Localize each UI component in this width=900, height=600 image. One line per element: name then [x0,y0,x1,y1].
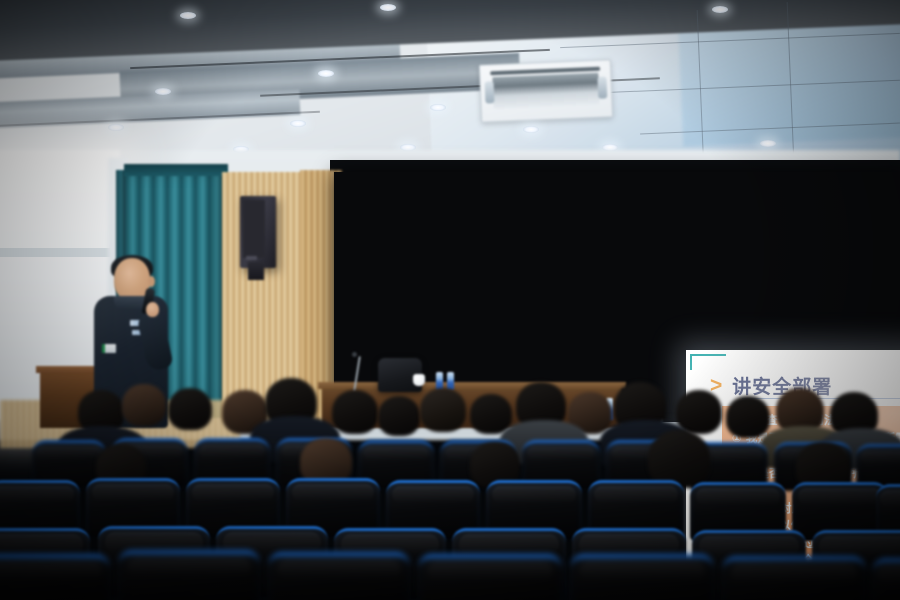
attendee-head [168,388,212,430]
ac-vent-right [597,76,607,98]
auditorium-seat-front[interactable] [268,552,410,600]
slide-accent-line [690,354,726,356]
downlight-icon [760,140,776,147]
auditorium-seat-front[interactable] [0,554,110,600]
attendee-head [420,388,466,432]
downlight-icon [380,4,396,11]
speaker-mount-bracket [248,262,264,280]
downlight-icon [180,12,196,19]
speaker-badge [246,256,257,260]
auditorium-seat-front[interactable] [418,554,562,600]
auditorium-photo-scene: 腾讯会议 正在共享 > 讲安全部署 开工检查个人五问法： ① 我是否具备了从事此… [0,0,900,600]
ceiling-cassette-ac-icon [479,59,613,122]
attendee-head [332,390,378,434]
auditorium-seat-front[interactable] [570,554,714,600]
downlight-icon [290,120,306,127]
presenter-badge [102,344,116,353]
attendee-head [470,394,512,434]
downlight-icon [712,6,728,13]
downlight-icon [430,104,446,111]
auditorium-seat-front[interactable] [118,550,260,600]
wall-speaker-icon [240,196,276,268]
auditorium-seat-front[interactable] [872,558,900,600]
presenter-ear [148,276,155,287]
attendee-head [726,396,770,438]
presenter-collar [114,296,146,310]
downlight-icon [108,124,124,131]
downlight-icon [523,126,539,133]
downlight-icon [155,88,171,95]
ac-grille [492,73,599,109]
attendee-head [378,396,420,436]
speaker-grille [243,200,265,258]
ac-vent-left [485,81,495,103]
gooseneck-mic-head [352,352,357,357]
window-mullion-h [0,248,115,257]
attendee-head [122,384,166,426]
downlight-icon [318,70,334,77]
curtain-rail [124,164,228,176]
auditorium-seat-front[interactable] [722,556,866,600]
audience-area [0,368,900,600]
presenter-hand [146,302,159,317]
